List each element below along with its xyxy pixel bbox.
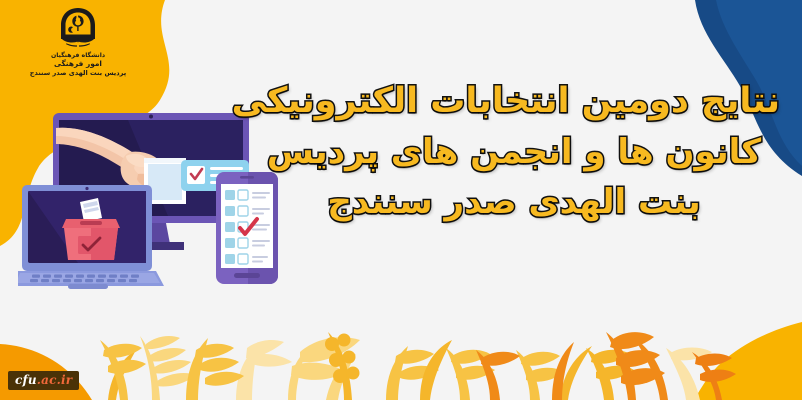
headline-line-3: بنت الهدی صدر سنندج	[248, 185, 780, 219]
url-primary: cfu	[15, 373, 37, 387]
headline-line-2: کانون ها و انجمن های پردیس	[248, 135, 780, 169]
url-secondary: .ac.ir	[37, 373, 73, 387]
logo-line-department: امور فرهنگی	[30, 60, 126, 69]
foliage-decoration	[100, 332, 736, 400]
page-title: نتایج دومین انتخابات الکترونیکی کانون ها…	[248, 84, 780, 219]
farhangian-university-emblem-icon	[55, 6, 101, 50]
bottom-right-blob	[694, 322, 802, 400]
headline-line-1: نتایج دومین انتخابات الکترونیکی	[248, 84, 780, 119]
site-url-badge[interactable]: cfu.ac.ir	[8, 371, 79, 390]
election-results-banner: دانشگاه فرهنگیان امور فرهنگی پردیس بنت ا…	[0, 0, 802, 400]
logo-line-university: دانشگاه فرهنگیان	[30, 52, 126, 59]
university-logo: دانشگاه فرهنگیان امور فرهنگی پردیس بنت ا…	[14, 6, 142, 78]
logo-line-campus: پردیس بنت الهدی صدر سنندج	[30, 70, 126, 78]
